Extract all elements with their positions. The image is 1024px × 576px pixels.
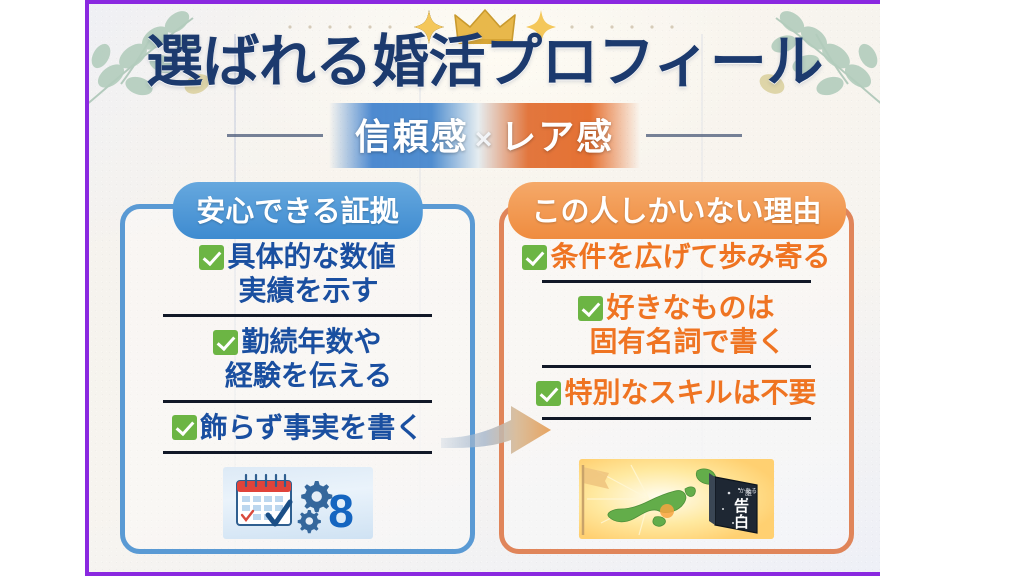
right-arrow-icon (441, 404, 551, 456)
divider (163, 451, 432, 454)
subtitle-rule-left (227, 134, 323, 137)
book-title-text: 告 (734, 497, 749, 515)
divider (542, 280, 811, 283)
panel-body-left: 具体的な数値 実績を示す 勤続年数や 経験を伝える (125, 235, 470, 549)
list-item: 条件を広げて歩み寄る (520, 235, 833, 276)
list-item: 飾らず事実を書く (141, 406, 454, 447)
calendar-gears-number-thumbnail: 8 (223, 467, 373, 539)
list-item: 勤続年数や 経験を伝える (141, 320, 454, 395)
bullet-row: 好きなものは (520, 291, 833, 325)
panel-unique-reason: この人しかいない理由 条件を広げて歩み寄る 好きなものは 固有名詞で書く (499, 204, 854, 554)
bullet-text: 経験を伝える (225, 359, 392, 393)
svg-text:かある: かある (739, 488, 757, 495)
check-icon (522, 245, 547, 270)
divider (163, 314, 432, 317)
subtitle: 信頼感×レア感 (355, 108, 615, 160)
bullet-text: 条件を広げて歩み寄る (550, 240, 830, 274)
check-icon (578, 296, 603, 321)
panel-heading-right: この人しかいない理由 (507, 182, 845, 239)
subtitle-left-text: 信頼感 (355, 116, 469, 157)
bullet-text: 飾らず事実を書く (200, 411, 423, 445)
list-item: 特別なスキルは不要 (520, 371, 833, 412)
infographic-slide: 選ばれる婚活プロフィール 信頼感×レア感 安心できる証拠 具体的な数値 (85, 0, 880, 576)
check-icon (199, 245, 224, 270)
panel-body-right: 条件を広げて歩み寄る 好きなものは 固有名詞で書く (504, 235, 849, 549)
subtitle-gradient-band: 信頼感×レア感 (329, 103, 641, 168)
subtitle-cross-icon: × (469, 123, 501, 156)
screenshot-canvas: 選ばれる婚活プロフィール 信頼感×レア感 安心できる証拠 具体的な数値 (0, 0, 1024, 576)
divider (163, 400, 432, 403)
list-item: 具体的な数値 実績を示す (141, 235, 454, 310)
divider (542, 365, 811, 368)
bullet-row-continued: 経験を伝える (141, 359, 454, 393)
bullet-row-continued: 実績を示す (141, 274, 454, 308)
check-icon (536, 381, 561, 406)
bullet-text: 好きなものは (606, 291, 774, 325)
subtitle-row: 信頼感×レア感 (89, 107, 880, 163)
subtitle-rule-right (646, 134, 742, 137)
japan-map-book-thumbnail: 誰 かある 告 白 (579, 459, 774, 539)
page-title: 選ばれる婚活プロフィール (89, 32, 880, 94)
bullet-text: 固有名詞で書く (589, 325, 785, 359)
divider (542, 417, 811, 420)
list-item: 好きなものは 固有名詞で書く (520, 286, 833, 361)
panel-heading-left: 安心できる証拠 (172, 182, 422, 239)
bullet-row: 具体的な数値 (141, 240, 454, 274)
bullet-row: 飾らず事実を書く (141, 411, 454, 445)
bullet-text: 勤続年数や (241, 325, 381, 359)
check-icon (172, 415, 197, 440)
bullet-text: 実績を示す (238, 274, 378, 308)
bullet-row-continued: 固有名詞で書く (520, 325, 833, 359)
bullet-text: 特別なスキルは不要 (564, 376, 816, 410)
subtitle-right-text: レア感 (500, 116, 614, 157)
bullet-row: 条件を広げて歩み寄る (520, 240, 833, 274)
panel-trust-evidence: 安心できる証拠 具体的な数値 実績を示す 勤続年数や (120, 204, 475, 554)
check-icon (213, 330, 238, 355)
bullet-row: 特別なスキルは不要 (520, 376, 833, 410)
bullet-text: 具体的な数値 (227, 240, 395, 274)
bullet-row: 勤続年数や (141, 325, 454, 359)
svg-text:白: 白 (734, 513, 749, 531)
thumbnail-number: 8 (328, 485, 354, 537)
